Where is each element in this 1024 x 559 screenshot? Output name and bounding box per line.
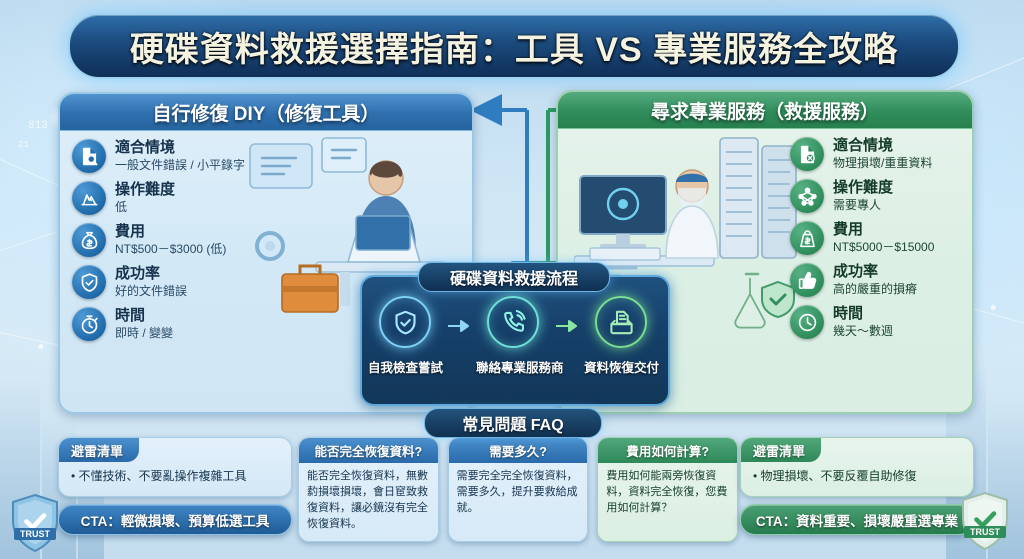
document-x-icon — [790, 137, 824, 171]
pro-row-label: 時間 — [833, 306, 893, 323]
faq-card-header: 能否完全恢復資料? — [299, 438, 438, 463]
diy-cta-label: CTA：輕微損壞、預算低選工具 — [81, 510, 270, 530]
pro-row-time: 時間 幾天～數週 — [790, 305, 962, 339]
professional-panel-header: 尋求專業服務（救援服務） — [558, 92, 972, 129]
clock-icon — [790, 305, 824, 339]
thumbs-up-icon — [790, 263, 824, 297]
diy-row-value: 低 — [115, 200, 175, 214]
pro-row-success: 成功率 高的嚴重的損瘠 — [790, 263, 962, 297]
faq-question: 費用如何計算? — [626, 441, 709, 460]
diy-row-difficulty: 操作難度 低 — [72, 181, 462, 215]
pro-cta-button[interactable]: CTA：資料重要、損壞嚴重選專業 — [740, 504, 974, 535]
shield-check-icon — [72, 265, 106, 299]
faq-title-text: 常見問題 FAQ — [462, 411, 563, 435]
faq-answer: 費用如何能兩旁恢復資料，資料完全恢復，您費用如何計算？ — [598, 463, 737, 525]
trust-badge-left-label: TRUST — [20, 529, 50, 539]
pro-warning-list: 避雷清單 • 物理損壞、不要反覆自助修復 — [740, 437, 974, 497]
diy-row-label: 費用 — [115, 224, 226, 241]
diy-row-value: 好的文件錯誤 — [115, 284, 187, 298]
flow-step-label: 資料恢復交付 — [584, 357, 658, 376]
faq-card-header: 費用如何計算? — [598, 438, 737, 463]
professional-rows: 適合情境 物理損壞/重重資料 操作難度 — [558, 129, 972, 339]
diy-row-situation: 適合情境 一般文件錯誤 / 小平錄字 — [72, 139, 462, 173]
faq-question: 能否完全恢復資料? — [315, 441, 423, 460]
flow-step-label: 聯絡專業服務商 — [476, 357, 550, 376]
diy-rows: 適合情境 一般文件錯誤 / 小平錄字 操作難度 低 — [60, 131, 472, 341]
pro-row-label: 費用 — [833, 222, 934, 239]
diy-warning-item: • 不懂技術、不要亂操作複雜工具 — [59, 462, 291, 484]
faq-answer: 能否完全恢復資料，無數䋤損壞損壞，會日䆠致救復資料，讓必鏡沒有完全恢復資料。 — [299, 463, 438, 541]
phone-call-icon — [487, 296, 539, 348]
diy-panel-header: 自行修復 DIY（修復工具） — [60, 94, 472, 131]
pro-warning-header: 避雷清單 — [741, 438, 821, 462]
faq-answer: 需要完全完全恢復資料，需要多久，提升要救給成就。 — [449, 463, 588, 525]
faq-question: 需要多久? — [489, 441, 547, 460]
pro-row-value: 幾天～數週 — [833, 324, 893, 338]
pro-warning-heading: 避雷清單 — [753, 441, 805, 460]
document-search-icon — [72, 139, 106, 173]
difficulty-chart-icon — [72, 181, 106, 215]
faq-card[interactable]: 能否完全恢復資料? 能否完全恢復資料，無數䋤損壞損壞，會日䆠致救復資料，讓必鏡沒… — [298, 437, 439, 542]
faq-title: 常見問題 FAQ — [424, 408, 602, 438]
diy-warning-header: 避雷清單 — [59, 438, 139, 462]
pro-row-value: 物理損壞/重重資料 — [833, 156, 932, 170]
stopwatch-icon — [72, 307, 106, 341]
trust-badge-right-label: TRUST — [970, 527, 1000, 537]
faq-card[interactable]: 費用如何計算? 費用如何能兩旁恢復資料，資料完全恢復，您費用如何計算？ — [597, 437, 738, 542]
trust-badge-left-icon: TRUST — [6, 492, 64, 554]
pro-warning-item: • 物理損壞、不要反覆自助修復 — [741, 462, 973, 484]
pro-row-value: 高的嚴重的損瘠 — [833, 282, 917, 296]
diy-row-value: NT$500－$3000 (低) — [115, 242, 226, 256]
infographic-canvas: 813 21 1 0 0 1 硬碟資料救援選擇 — [0, 0, 1024, 559]
diy-panel-heading: 自行修復 DIY（修復工具） — [153, 99, 380, 126]
network-nodes-icon — [790, 179, 824, 213]
page-title: 硬碟資料救援選擇指南：工具 VS 專業服務全攻略 — [68, 13, 960, 79]
diy-row-time: 時間 即時 / 變變 — [72, 307, 462, 341]
pro-cta-label: CTA：資料重要、損壞嚴重選專業 — [756, 510, 958, 530]
pro-row-label: 成功率 — [833, 264, 917, 281]
pro-row-label: 操作難度 — [833, 180, 893, 197]
pro-row-situation: 適合情境 物理損壞/重重資料 — [790, 137, 962, 171]
pro-row-label: 適合情境 — [833, 138, 932, 155]
pro-row-value: NT$5000－$15000 — [833, 240, 934, 254]
flow-step-label: 自我檢查嘗試 — [368, 357, 442, 376]
diy-row-label: 適合情境 — [115, 140, 245, 157]
faq-cards: 能否完全恢復資料? 能否完全恢復資料，無數䋤損壞損壞，會日䆠致救復資料，讓必鏡沒… — [298, 437, 738, 542]
diy-row-cost: 費用 NT$500－$3000 (低) — [72, 223, 462, 257]
flow-step-contact: 聯絡專業服務商 — [476, 296, 550, 376]
faq-card-header: 需要多久? — [449, 438, 588, 463]
pro-row-value: 需要專人 — [833, 198, 893, 212]
diy-row-success: 成功率 好的文件錯誤 — [72, 265, 462, 299]
faq-card[interactable]: 需要多久? 需要完全完全恢復資料，需要多久，提升要救給成就。 — [448, 437, 589, 542]
diy-row-value: 即時 / 變變 — [115, 326, 173, 340]
diy-row-label: 操作難度 — [115, 182, 175, 199]
diy-warning-list: 避雷清單 • 不懂技術、不要亂操作複雜工具 — [58, 437, 292, 497]
money-weight-icon — [790, 221, 824, 255]
diy-row-label: 時間 — [115, 308, 173, 325]
money-bag-icon — [72, 223, 106, 257]
diy-cta-button[interactable]: CTA：輕微損壞、預算低選工具 — [58, 504, 292, 535]
professional-panel-heading: 尋求專業服務（救援服務） — [651, 97, 879, 124]
diy-warning-heading: 避雷清單 — [71, 441, 123, 460]
page-title-text: 硬碟資料救援選擇指南：工具 VS 專業服務全攻略 — [130, 22, 898, 71]
pro-row-cost: 費用 NT$5000－$15000 — [790, 221, 962, 255]
trust-badge-right-icon: TRUST — [956, 490, 1014, 552]
diy-row-label: 成功率 — [115, 266, 187, 283]
diy-row-value: 一般文件錯誤 / 小平錄字 — [115, 158, 245, 172]
pro-row-difficulty: 操作難度 需要專人 — [790, 179, 962, 213]
